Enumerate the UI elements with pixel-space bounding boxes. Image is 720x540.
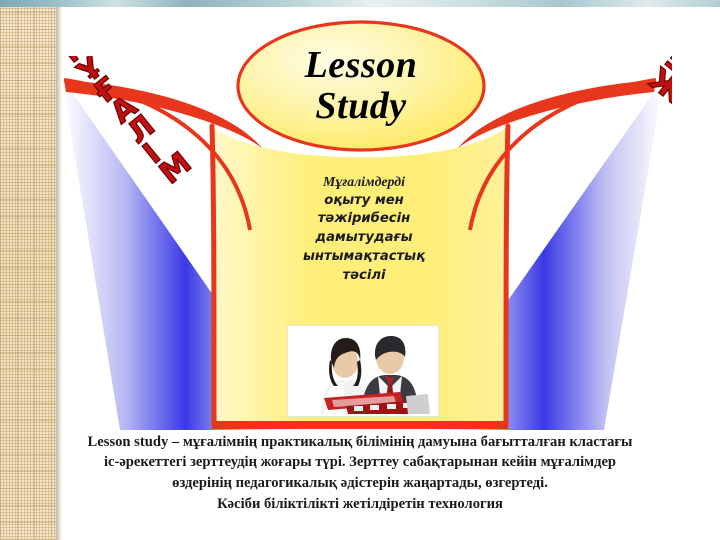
subtitle-line-5: ынтымақтастық [274,248,454,267]
caption-line-2: іс-әрекеттегі зерттеудің жоғары түрі. Зе… [0,452,720,472]
yellow-title-oval-shape [238,22,484,150]
left-texture-sidebar [0,0,56,540]
subtitle-line-6: тәсілі [274,267,454,286]
teachers-photo [287,325,439,417]
subtitle-line-1: Мұғалімдерді [274,172,454,192]
caption-line-3: өздерінің педагогикалық әдістерін жаңарт… [0,473,720,493]
caption-line-1: Lesson study – мұғалімнің практикалық бі… [0,432,720,452]
top-decorative-strip [0,0,720,7]
funnel-subtitle: Мұғалімдерді оқыту мен тәжірибесін дамыт… [274,172,454,285]
subtitle-line-3: тәжірибесін [274,210,454,229]
caption-line-4: Кәсіби біліктілікті жетілдіретін техноло… [0,494,720,514]
sidebar-shadow-edge [56,0,62,540]
subtitle-line-2: оқыту мен [274,192,454,211]
subtitle-line-4: дамытудағы [274,229,454,248]
bottom-caption: Lesson study – мұғалімнің практикалық бі… [0,432,720,515]
slide-canvas: Lesson Study Мұғалімдерді оқыту мен тәжі… [0,0,720,540]
